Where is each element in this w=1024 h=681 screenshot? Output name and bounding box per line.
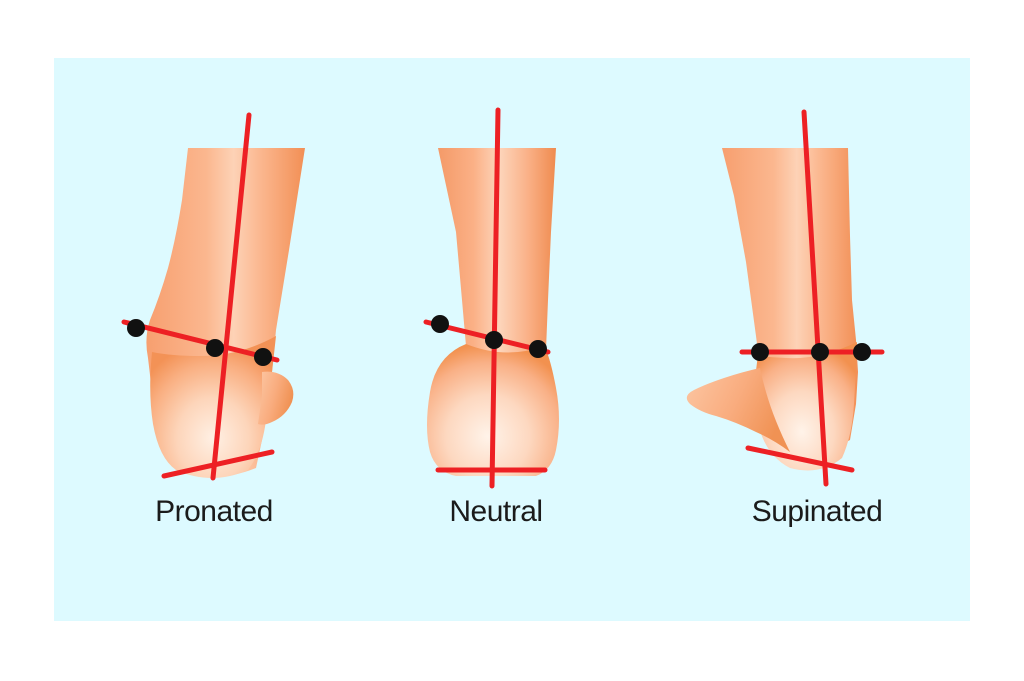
figure-pronated bbox=[124, 115, 305, 478]
figure-neutral bbox=[426, 110, 559, 486]
pronated-marker-lateral bbox=[254, 348, 272, 366]
label-neutral: Neutral bbox=[366, 497, 626, 527]
label-pronated: Pronated bbox=[84, 497, 344, 527]
supinated-marker-lateral bbox=[853, 343, 871, 361]
neutral-marker-lateral bbox=[529, 340, 547, 358]
supinated-marker-center bbox=[811, 343, 829, 361]
label-supinated: Supinated bbox=[682, 497, 952, 527]
pronated-forefoot-stub bbox=[258, 372, 293, 425]
pronated-marker-center bbox=[206, 339, 224, 357]
pronated-marker-medial bbox=[127, 319, 145, 337]
figure-root: Pronated Neutral Supinated bbox=[0, 0, 1024, 681]
anatomy-illustration bbox=[0, 0, 1024, 681]
supinated-marker-medial bbox=[751, 343, 769, 361]
figure-supinated bbox=[687, 112, 882, 484]
neutral-marker-medial bbox=[431, 315, 449, 333]
neutral-marker-center bbox=[485, 331, 503, 349]
